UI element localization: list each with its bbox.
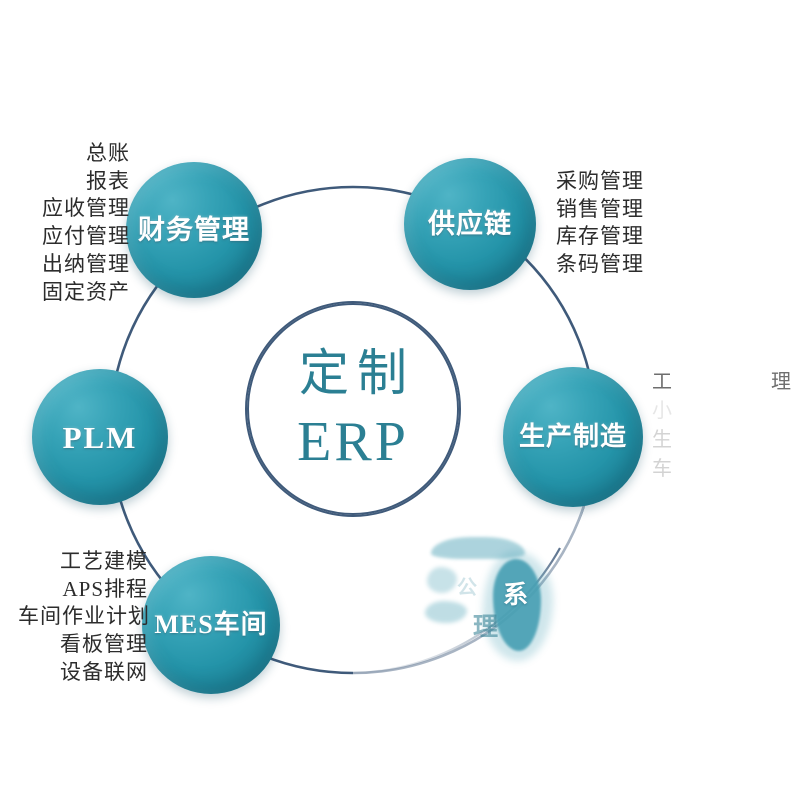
node-mes-workshop[interactable]: MES车间 <box>142 556 280 694</box>
annotation-finance-item: 应付管理 <box>6 223 130 251</box>
node-manufacturing-label: 生产制造 <box>519 424 627 450</box>
node-plm-label: PLM <box>63 422 138 453</box>
annotation-supply-chain-item: 采购管理 <box>556 168 644 196</box>
center-hub: 定制 ERP <box>247 303 459 515</box>
annotation-supply-chain-item: 条码管理 <box>556 251 644 279</box>
annotation-mes-workshop: 工艺建模 APS排程 车间作业计划 看板管理 设备联网 <box>18 548 148 687</box>
annotation-supply-chain-item: 销售管理 <box>556 196 644 224</box>
annotation-finance-item: 出纳管理 <box>6 251 130 279</box>
diagram-canvas: 定制 ERP 财务管理 供应链 生产制造 MES车间 PLM 总账 报表 应收管… <box>0 0 800 800</box>
annotation-mes-workshop-item: 车间作业计划 <box>18 603 148 631</box>
annotation-finance-item: 固定资产 <box>6 279 130 307</box>
annotation-finance-item: 总账 <box>6 140 130 168</box>
center-title-en: ERP <box>297 414 409 470</box>
center-title-cn: 定制 <box>291 348 415 398</box>
node-manufacturing[interactable]: 生产制造 <box>503 367 643 507</box>
annotation-finance-item: 报表 <box>6 168 130 196</box>
annotation-mes-workshop-item: 设备联网 <box>18 659 148 687</box>
annotation-supply-chain-item: 库存管理 <box>556 223 644 251</box>
annotation-mes-workshop-item: 工艺建模 <box>18 548 148 576</box>
node-supply-chain[interactable]: 供应链 <box>404 158 536 290</box>
annotation-mes-workshop-item: 看板管理 <box>18 631 148 659</box>
node-supply-chain-label: 供应链 <box>428 211 512 238</box>
annotation-finance-item: 应收管理 <box>6 195 130 223</box>
node-plm[interactable]: PLM <box>32 369 168 505</box>
annotation-finance: 总账 报表 应收管理 应付管理 出纳管理 固定资产 <box>6 140 130 306</box>
node-mes-workshop-label: MES车间 <box>154 612 267 638</box>
node-finance-label: 财务管理 <box>138 217 250 244</box>
annotation-supply-chain: 采购管理 销售管理 库存管理 条码管理 <box>556 168 644 279</box>
node-finance[interactable]: 财务管理 <box>126 162 262 298</box>
outer-ring-faded-arc <box>353 548 560 673</box>
annotation-mes-workshop-item: APS排程 <box>18 576 148 604</box>
